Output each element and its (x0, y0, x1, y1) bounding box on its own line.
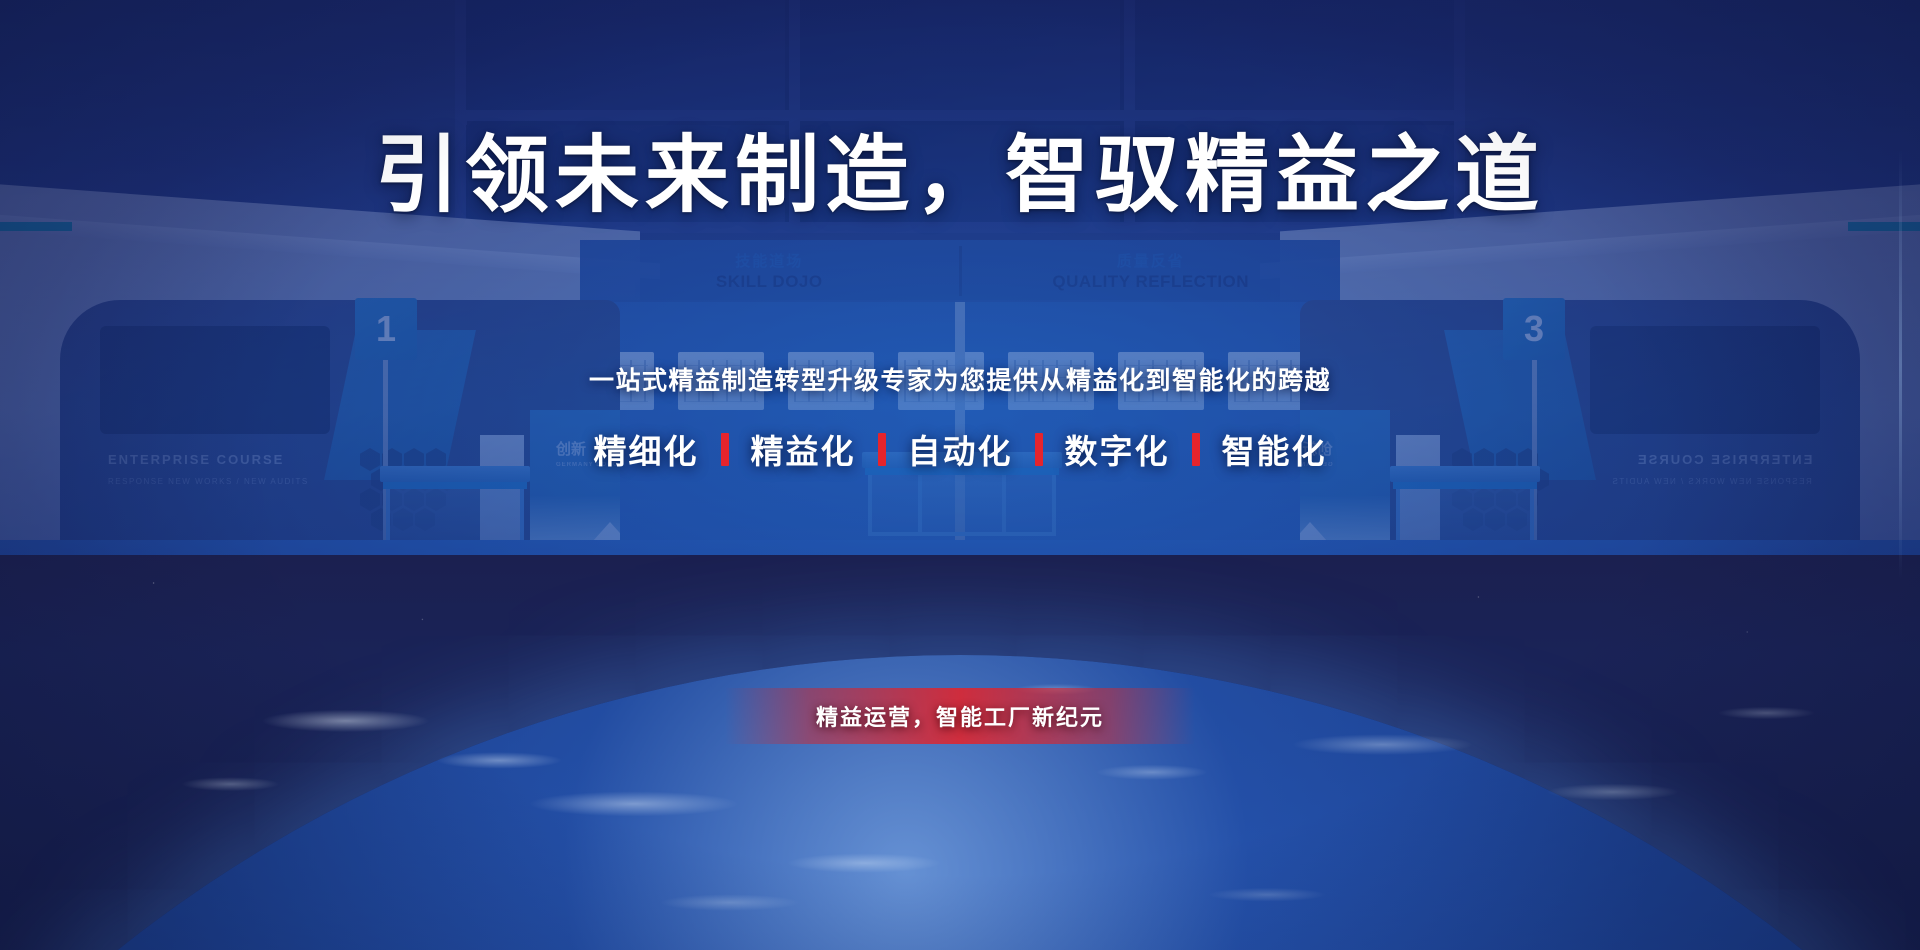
hero-content: 引领未来制造，智驭精益之道 一站式精益制造转型升级专家为您提供从精益化到智能化的… (0, 0, 1920, 950)
hero-subtitle: 一站式精益制造转型升级专家为您提供从精益化到智能化的跨越 (0, 361, 1920, 397)
keyword-separator-icon (1192, 433, 1200, 466)
keyword-separator-icon (878, 433, 886, 466)
page-title: 引领未来制造，智驭精益之道 (0, 130, 1920, 221)
keyword-separator-icon (721, 433, 729, 466)
keyword-list: 精细化 精益化 自动化 数字化 智能化 (0, 425, 1920, 473)
keyword-separator-icon (1035, 433, 1043, 466)
keyword-item: 精益化 (751, 425, 856, 473)
hero-banner: 技能道场 SKILL DOJO 质量反省 QUALITY REFLECTION … (0, 0, 1920, 950)
keyword-item: 数字化 (1065, 425, 1170, 473)
keyword-item: 智能化 (1222, 425, 1327, 473)
keyword-item: 精细化 (594, 425, 699, 473)
tagline-ribbon: 精益运营，智能工厂新纪元 (725, 688, 1195, 744)
keyword-item: 自动化 (908, 425, 1013, 473)
tagline-text: 精益运营，智能工厂新纪元 (816, 700, 1104, 732)
